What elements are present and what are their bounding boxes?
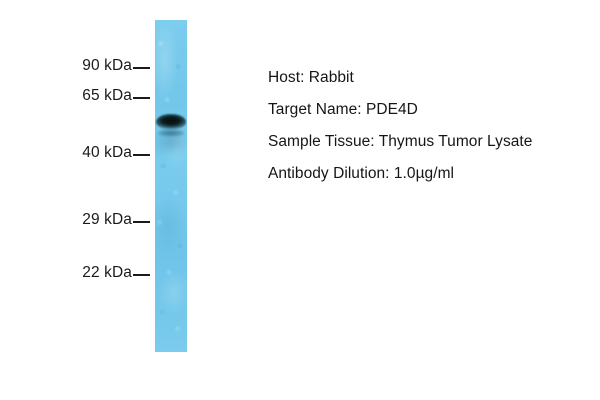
marker-row: 40 kDa	[82, 144, 150, 162]
info-line-host: Host: Rabbit	[268, 62, 588, 94]
marker-tick-icon	[133, 221, 150, 223]
info-line-target-name: Target Name: PDE4D	[268, 94, 588, 126]
protein-band	[156, 114, 186, 130]
blot-lane	[155, 20, 187, 352]
marker-row: 22 kDa	[82, 264, 150, 282]
marker-row: 29 kDa	[82, 211, 150, 229]
lane-texture	[155, 20, 187, 352]
band-smear	[158, 129, 184, 137]
marker-label: 29 kDa	[82, 211, 132, 229]
marker-label: 22 kDa	[82, 264, 132, 282]
marker-tick-icon	[133, 97, 150, 99]
info-line-antibody-dilution: Antibody Dilution: 1.0µg/ml	[268, 158, 588, 190]
marker-row: 65 kDa	[82, 87, 150, 105]
marker-tick-icon	[133, 67, 150, 69]
info-line-sample-tissue: Sample Tissue: Thymus Tumor Lysate	[268, 126, 588, 158]
western-blot-figure: 90 kDa 65 kDa 40 kDa 29 kDa 22 kDa Host:…	[0, 0, 600, 400]
marker-label: 65 kDa	[82, 87, 132, 105]
marker-tick-icon	[133, 274, 150, 276]
marker-row: 90 kDa	[82, 57, 150, 75]
molecular-weight-ladder: 90 kDa 65 kDa 40 kDa 29 kDa 22 kDa	[0, 0, 155, 400]
marker-tick-icon	[133, 154, 150, 156]
marker-label: 90 kDa	[82, 57, 132, 75]
antibody-info-block: Host: Rabbit Target Name: PDE4D Sample T…	[268, 62, 588, 190]
marker-label: 40 kDa	[82, 144, 132, 162]
